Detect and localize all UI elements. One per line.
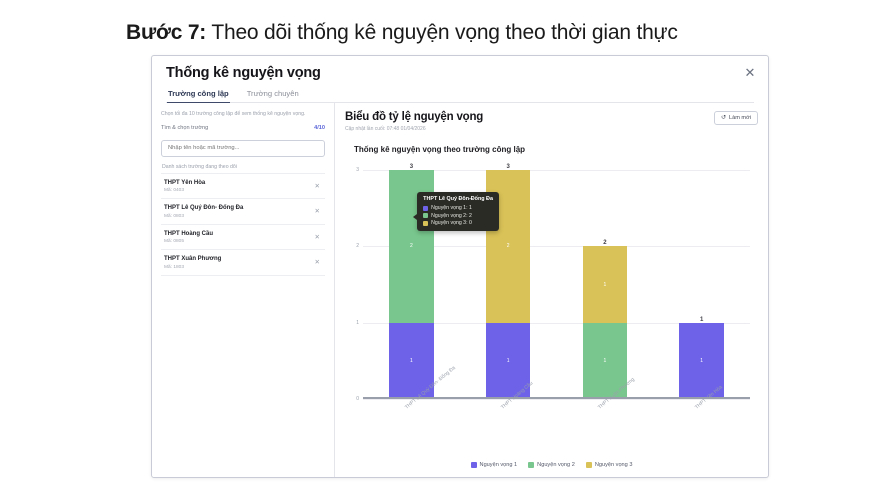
y-axis-tick: 2 [347,243,359,249]
bar-total-label: 1 [679,317,724,323]
close-icon[interactable]: ✕ [741,64,759,82]
legend-swatch [528,462,534,468]
tab-truong-cong-lap[interactable]: Trường công lập [167,89,230,103]
tooltip-swatch-nv2 [423,213,428,218]
bar-total-label: 3 [389,164,434,170]
list-item[interactable]: THPT Yên Hòa Mã: 0403 ✕ [161,174,325,200]
tooltip-swatch-nv1 [423,206,428,211]
legend-item[interactable]: Nguyện vọng 1 [471,462,518,468]
find-row: Tìm & chọn trường 4/10 [161,125,325,131]
refresh-icon: ↺ [721,115,726,121]
tooltip-title: THPT Lê Quý Đôn-Đống Đa [423,196,493,202]
school-code: Mã: 0803 [164,214,243,219]
tooltip-row: Nguyện vọng 2: 2 [423,213,493,219]
school-name: THPT Yên Hòa [164,179,205,187]
bar-group[interactable]: 112 [583,246,628,399]
list-item[interactable]: THPT Lê Quý Đôn- Đống Đa Mã: 0803 ✕ [161,199,325,225]
tooltip-caret [413,214,417,220]
school-code: Mã: 1803 [164,265,221,270]
modal-body: Chọn tối đa 10 trường công lập để xem th… [152,103,768,477]
legend-item[interactable]: Nguyện vọng 2 [528,462,575,468]
tooltip-row: Nguyện vọng 1: 1 [423,205,493,211]
tooltip-text-nv2: Nguyện vọng 2: 2 [431,213,472,219]
legend-label: Nguyện vọng 2 [537,462,575,468]
search-input[interactable] [161,140,325,157]
modal-header: Thống kê nguyện vọng ✕ Trường công lập T… [152,56,768,103]
remove-icon[interactable]: ✕ [312,258,323,266]
tracked-list-label: Danh sách trường đang theo dõi [162,164,325,170]
y-axis-tick: 0 [347,396,359,402]
chart-canvas: 0123 12312311211 THPT Lê Quý Đôn-Đống Đa… [345,164,758,414]
list-item[interactable]: THPT Hoàng Cầu Mã: 0805 ✕ [161,225,325,251]
legend-swatch [586,462,592,468]
step-text: Theo dõi thống kê nguyện vọng theo thời … [206,21,678,44]
tab-bar: Trường công lập Trường chuyên [166,89,754,103]
selection-count-badge: 4/10 [314,125,325,131]
chart-title: Thống kê nguyện vọng theo trường công lậ… [354,145,758,154]
plot-area: 0123 12312311211 THPT Lê Quý Đôn-Đống Đa… [363,170,750,399]
find-label: Tìm & chọn trường [161,125,208,131]
refresh-button[interactable]: ↺ Làm mới [714,111,758,125]
statistics-modal: Thống kê nguyện vọng ✕ Trường công lập T… [151,55,769,478]
tooltip-row: Nguyện vọng 3: 0 [423,220,493,226]
chart-legend: Nguyện vọng 1Nguyện vọng 2Nguyện vọng 3 [335,462,768,468]
chart-panel-title: Biểu đồ tỷ lệ nguyện vọng [345,111,483,123]
remove-icon[interactable]: ✕ [312,233,323,241]
school-code: Mã: 0805 [164,239,213,244]
step-label: Bước 7: [126,21,206,44]
chart-panel: Biểu đồ tỷ lệ nguyện vọng Cập nhật lần c… [335,103,768,477]
modal-title: Thống kê nguyện vọng [166,65,754,81]
tooltip-text-nv1: Nguyện vọng 1: 1 [431,205,472,211]
chart-tooltip: THPT Lê Quý Đôn-Đống Đa Nguyện vọng 1: 1… [417,192,499,231]
school-name: THPT Hoàng Cầu [164,230,213,238]
y-axis-tick: 1 [347,320,359,326]
legend-item[interactable]: Nguyện vọng 3 [586,462,633,468]
list-item[interactable]: THPT Xuân Phương Mã: 1803 ✕ [161,250,325,276]
refresh-button-label: Làm mới [729,115,751,121]
school-selector-panel: Chọn tối đa 10 trường công lập để xem th… [152,103,335,477]
tab-truong-chuyen[interactable]: Trường chuyên [246,89,300,103]
legend-label: Nguyện vọng 3 [595,462,633,468]
legend-label: Nguyện vọng 1 [480,462,518,468]
page-title: Bước 7: Theo dõi thống kê nguyện vọng th… [126,20,826,46]
school-name: THPT Lê Quý Đôn- Đống Đa [164,204,243,212]
bar-total-label: 3 [486,164,531,170]
school-name: THPT Xuân Phương [164,255,221,263]
last-updated-text: Cập nhật lần cuối: 07:48 01/04/2026 [345,126,483,132]
selection-hint: Chọn tối đa 10 trường công lập để xem th… [161,110,325,118]
remove-icon[interactable]: ✕ [312,207,323,215]
remove-icon[interactable]: ✕ [312,182,323,190]
y-axis-tick: 3 [347,167,359,173]
chart-header: Biểu đồ tỷ lệ nguyện vọng Cập nhật lần c… [345,111,758,132]
bar-total-label: 2 [583,240,628,246]
school-code: Mã: 0403 [164,188,205,193]
tracked-school-list: THPT Yên Hòa Mã: 0403 ✕ THPT Lê Quý Đôn-… [161,173,325,276]
tooltip-text-nv3: Nguyện vọng 3: 0 [431,220,472,226]
bar-segment[interactable]: 1 [583,246,628,322]
x-axis-labels: THPT Lê Quý Đôn- Đống ĐaTHPT Hoàng CầuTH… [363,406,750,466]
tooltip-swatch-nv3 [423,221,428,226]
legend-swatch [471,462,477,468]
